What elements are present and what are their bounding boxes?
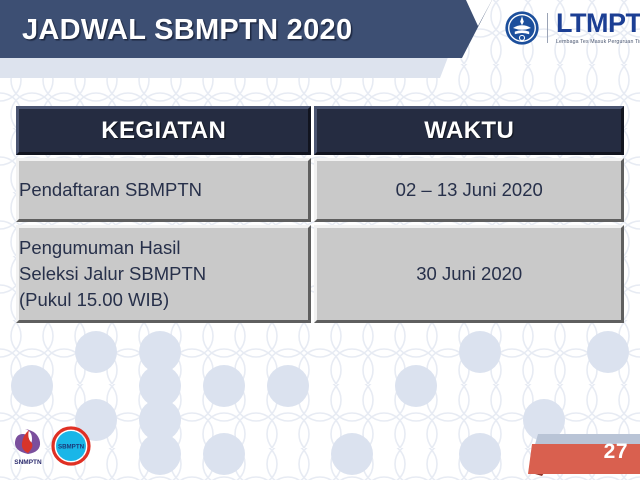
cell-text-line: (Pukul 15.00 WIB) bbox=[19, 287, 308, 313]
column-header-kegiatan: KEGIATAN bbox=[16, 106, 311, 155]
cell-waktu: 02 – 13 Juni 2020 bbox=[314, 158, 624, 222]
cell-kegiatan: Pendaftaran SBMPTN bbox=[16, 158, 311, 222]
kemdikbud-tut-wuri-handayani-seal-icon bbox=[504, 10, 540, 46]
cell-text-line: Pendaftaran SBMPTN bbox=[19, 177, 308, 203]
schedule-table: KEGIATAN WAKTU Pendaftaran SBMPTN 02 – 1… bbox=[13, 103, 627, 326]
page-number: 27 bbox=[604, 440, 628, 464]
ltmpt-tagline: Lembaga Tes Masuk Perguruan Tinggi bbox=[556, 40, 640, 45]
sbmptn-logo-icon: SBMPTN bbox=[50, 424, 92, 470]
cell-text-line: Seleksi Jalur SBMPTN bbox=[19, 261, 308, 287]
ltmpt-name: LTMPT bbox=[556, 10, 640, 37]
ltmpt-wordmark: LTMPT Lembaga Tes Masuk Perguruan Tinggi bbox=[556, 10, 640, 45]
slide-canvas: JADWAL SBMPTN 2020 LTMPT Lembaga Tes Mas… bbox=[0, 0, 640, 480]
column-header-waktu: WAKTU bbox=[314, 106, 624, 155]
cell-text-line: Pengumuman Hasil bbox=[19, 235, 308, 261]
logo-divider bbox=[547, 13, 548, 43]
snmptn-logo-icon: SNMPTN bbox=[8, 424, 48, 470]
table-header-row: KEGIATAN WAKTU bbox=[16, 106, 624, 155]
svg-text:SBMPTN: SBMPTN bbox=[58, 444, 85, 451]
table-row: Pendaftaran SBMPTN 02 – 13 Juni 2020 bbox=[16, 158, 624, 222]
ltmpt-logo: LTMPT Lembaga Tes Masuk Perguruan Tinggi bbox=[504, 10, 640, 46]
footer-logo-group: SNMPTN SBMPTN bbox=[8, 424, 92, 470]
cell-waktu: 30 Juni 2020 bbox=[314, 225, 624, 323]
svg-text:SNMPTN: SNMPTN bbox=[14, 459, 42, 466]
page-title: JADWAL SBMPTN 2020 bbox=[22, 14, 352, 47]
cell-kegiatan: Pengumuman Hasil Seleksi Jalur SBMPTN (P… bbox=[16, 225, 311, 323]
table-row: Pengumuman Hasil Seleksi Jalur SBMPTN (P… bbox=[16, 225, 624, 323]
